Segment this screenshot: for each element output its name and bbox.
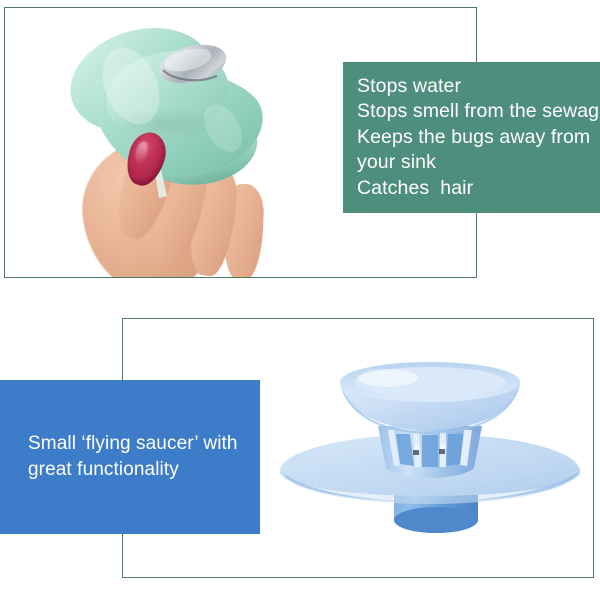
feature-line: Stops water [357, 74, 600, 100]
product-green-stopper [45, 20, 295, 210]
feature-line: Stops smell from the sewage [357, 99, 600, 125]
tagline-line: great functionality [28, 457, 250, 483]
feature-line: Catches hair [357, 176, 600, 202]
tagline-line: Small ‘flying saucer’ with [28, 431, 250, 457]
feature-list-panel: Stops water Stops smell from the sewage … [343, 62, 600, 213]
tagline-panel: Small ‘flying saucer’ with great functio… [0, 380, 260, 534]
infographic-page: Stops water Stops smell from the sewage … [0, 0, 600, 600]
feature-line: Keeps the bugs away from [357, 125, 600, 151]
feature-line: your sink [357, 150, 600, 176]
